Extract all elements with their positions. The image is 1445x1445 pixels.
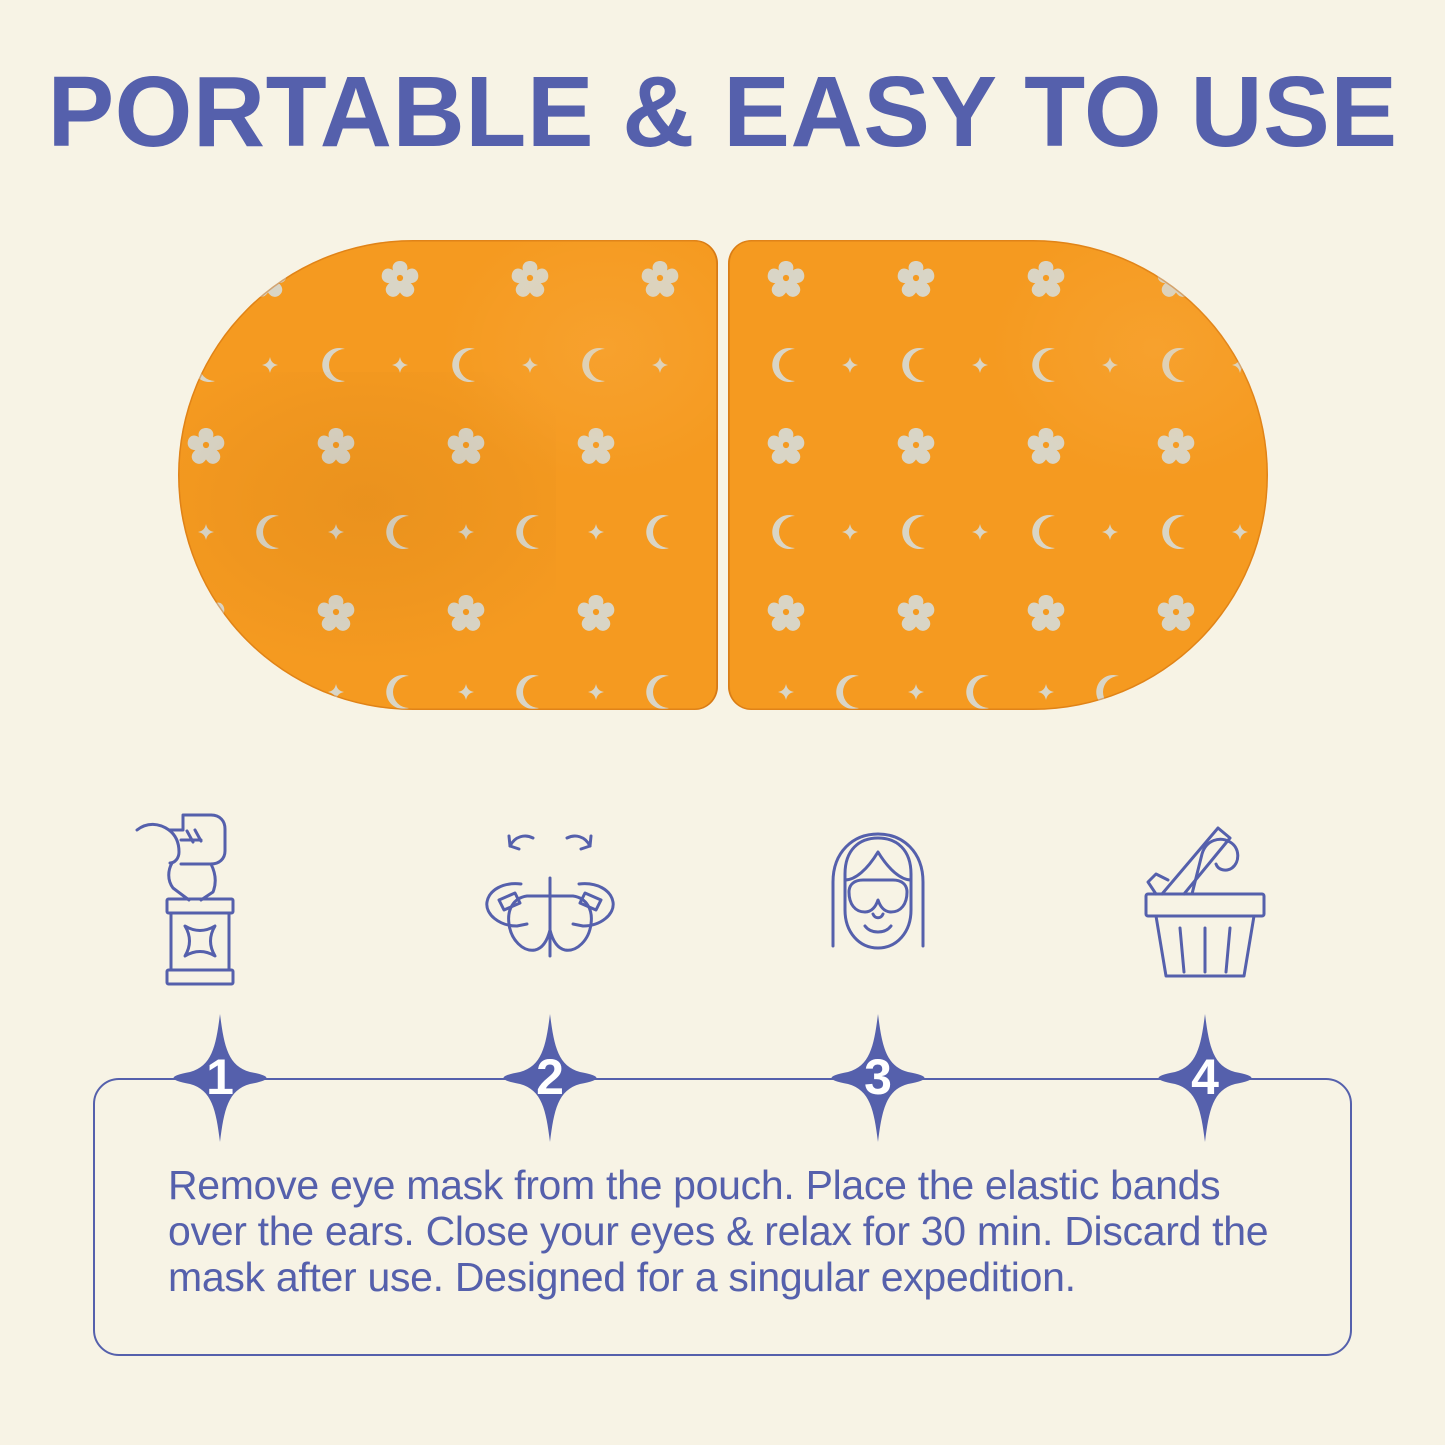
woman-wearing-eye-mask-icon xyxy=(783,806,973,996)
step-2-icon-wrap xyxy=(455,806,645,996)
hand-removing-mask-from-pouch-icon xyxy=(125,806,315,996)
step-badge-1-number: 1 xyxy=(166,1012,274,1144)
step-badge-1[interactable]: 1 xyxy=(166,1012,274,1144)
infographic-page: PORTABLE & EASY TO USE xyxy=(0,0,1445,1445)
mask-pattern-left xyxy=(178,240,718,710)
step-icons-row xyxy=(0,806,1445,996)
mask-pattern-right xyxy=(728,240,1268,710)
step-badge-3-number: 3 xyxy=(824,1012,932,1144)
step-3-icon-wrap xyxy=(783,806,973,996)
trash-bin-discard-icon xyxy=(1110,806,1300,996)
step-badge-2-number: 2 xyxy=(496,1012,604,1144)
step-badge-3[interactable]: 3 xyxy=(824,1012,932,1144)
page-title: PORTABLE & EASY TO USE xyxy=(0,62,1445,162)
step-1-icon-wrap xyxy=(125,806,315,996)
eye-mask-pad-left xyxy=(178,240,718,710)
product-image xyxy=(178,240,1268,710)
step-4-icon-wrap xyxy=(1110,806,1300,996)
step-badge-4-number: 4 xyxy=(1151,1012,1259,1144)
instruction-text: Remove eye mask from the pouch. Place th… xyxy=(168,1162,1298,1300)
eye-mask-unfolding-straps-icon xyxy=(455,806,645,996)
step-badge-2[interactable]: 2 xyxy=(496,1012,604,1144)
eye-mask-pad-right xyxy=(728,240,1268,710)
step-badge-4[interactable]: 4 xyxy=(1151,1012,1259,1144)
